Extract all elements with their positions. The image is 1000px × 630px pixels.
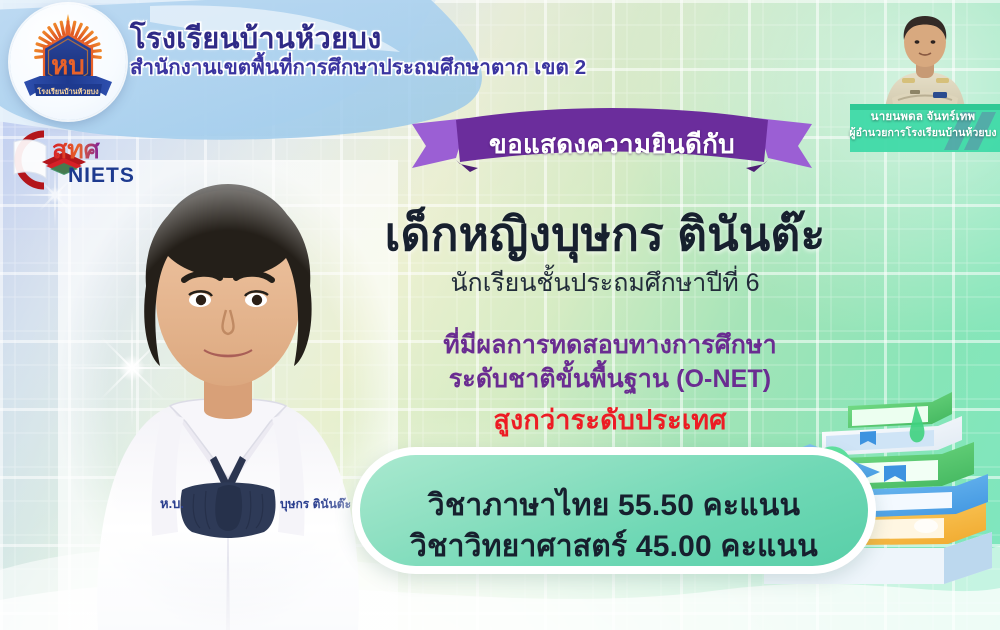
score-card-inner: วิชาภาษาไทย 55.50 คะแนน วิชาวิทยาศาสตร์ … <box>360 455 868 566</box>
logo-monogram: หบ <box>51 51 85 80</box>
director-role: ผู้อำนวยการโรงเรียนบ้านห้วยบง <box>838 124 1000 141</box>
score-line-science: วิชาวิทยาศาสตร์ 45.00 คะแนน <box>360 523 868 570</box>
niets-thai-abbr: สทศ <box>52 136 101 164</box>
niets-latin-abbr: NIETS <box>68 164 135 187</box>
certificate-poster: หบ โรงเรียนบ้านห้วยบง โรงเรียนบ้านห้วยบง… <box>0 0 1000 630</box>
score-line-thai: วิชาภาษาไทย 55.50 คะแนน <box>360 482 868 529</box>
ribbon-label: ขอแสดงความยินดีกับ <box>412 124 812 165</box>
achievement-highlight: สูงกว่าระดับประเทศ <box>330 398 890 441</box>
school-logo: หบ โรงเรียนบ้านห้วยบง <box>10 4 126 120</box>
niets-logo-icon: สทศ NIETS <box>8 128 148 192</box>
header-text-block: โรงเรียนบ้านห้วยบง สำนักงานเขตพื้นที่การ… <box>130 24 586 79</box>
director-badge: นายนพดล จันทร์เทพ ผู้อำนวยการโรงเรียนบ้า… <box>850 0 1000 152</box>
page-subtitle: สำนักงานเขตพื้นที่การศึกษาประถมศึกษาตาก … <box>130 57 586 79</box>
page-title: โรงเรียนบ้านห้วยบง <box>130 24 586 54</box>
congratulation-ribbon: ขอแสดงความยินดีกับ <box>412 108 812 192</box>
student-grade: นักเรียนชั้นประถมศึกษาปีที่ 6 <box>340 263 870 303</box>
achievement-line-2: ระดับชาติขั้นพื้นฐาน (O-NET) <box>330 359 890 399</box>
logo-ribbon-text: โรงเรียนบ้านห้วยบง <box>36 87 99 96</box>
school-crest-icon: หบ โรงเรียนบ้านห้วยบง <box>10 4 126 120</box>
student-name: เด็กหญิงบุษกร ตินันต๊ะ <box>340 198 870 271</box>
score-card: วิชาภาษาไทย 55.50 คะแนน วิชาวิทยาศาสตร์ … <box>352 447 876 574</box>
niets-logo: สทศ NIETS <box>8 128 148 192</box>
